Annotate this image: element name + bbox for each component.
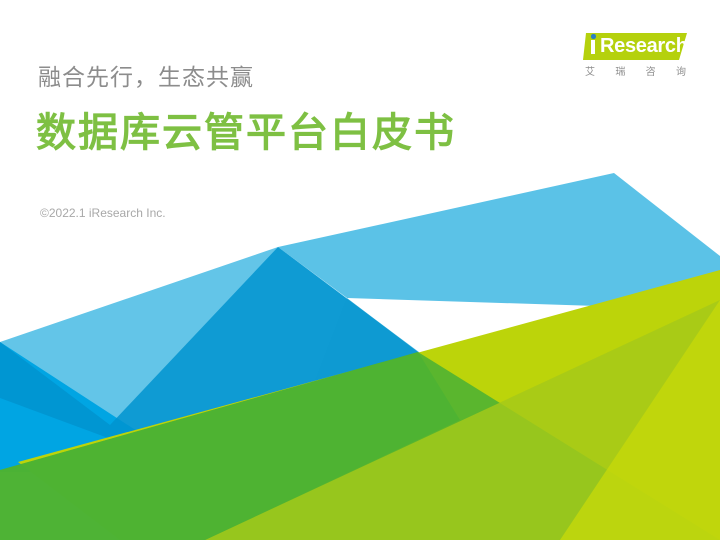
cover-subtitle: 融合先行，生态共赢 xyxy=(38,58,254,92)
copyright-notice: ©2022.1 iResearch Inc. xyxy=(40,206,166,220)
logo-chinese-name: 艾 瑞 咨 询 xyxy=(585,63,687,78)
logo-wordmark: Research xyxy=(600,35,688,58)
logo-i-dot-icon xyxy=(591,34,596,39)
page-title: 数据库云管平台白皮书 xyxy=(36,100,456,158)
logo-mark: Research xyxy=(583,33,687,60)
logo-chinese-char-2: 瑞 xyxy=(615,63,626,78)
report-cover-page: Research 艾 瑞 咨 询 融合先行，生态共赢 数据库云管平台白皮书 ©2… xyxy=(0,0,720,540)
logo-chinese-char-4: 询 xyxy=(676,63,687,78)
logo-chinese-char-1: 艾 xyxy=(585,63,596,78)
iresearch-logo: Research 艾 瑞 咨 询 xyxy=(583,33,693,85)
logo-i-stem-icon xyxy=(591,40,595,54)
logo-chinese-char-3: 咨 xyxy=(646,63,657,78)
